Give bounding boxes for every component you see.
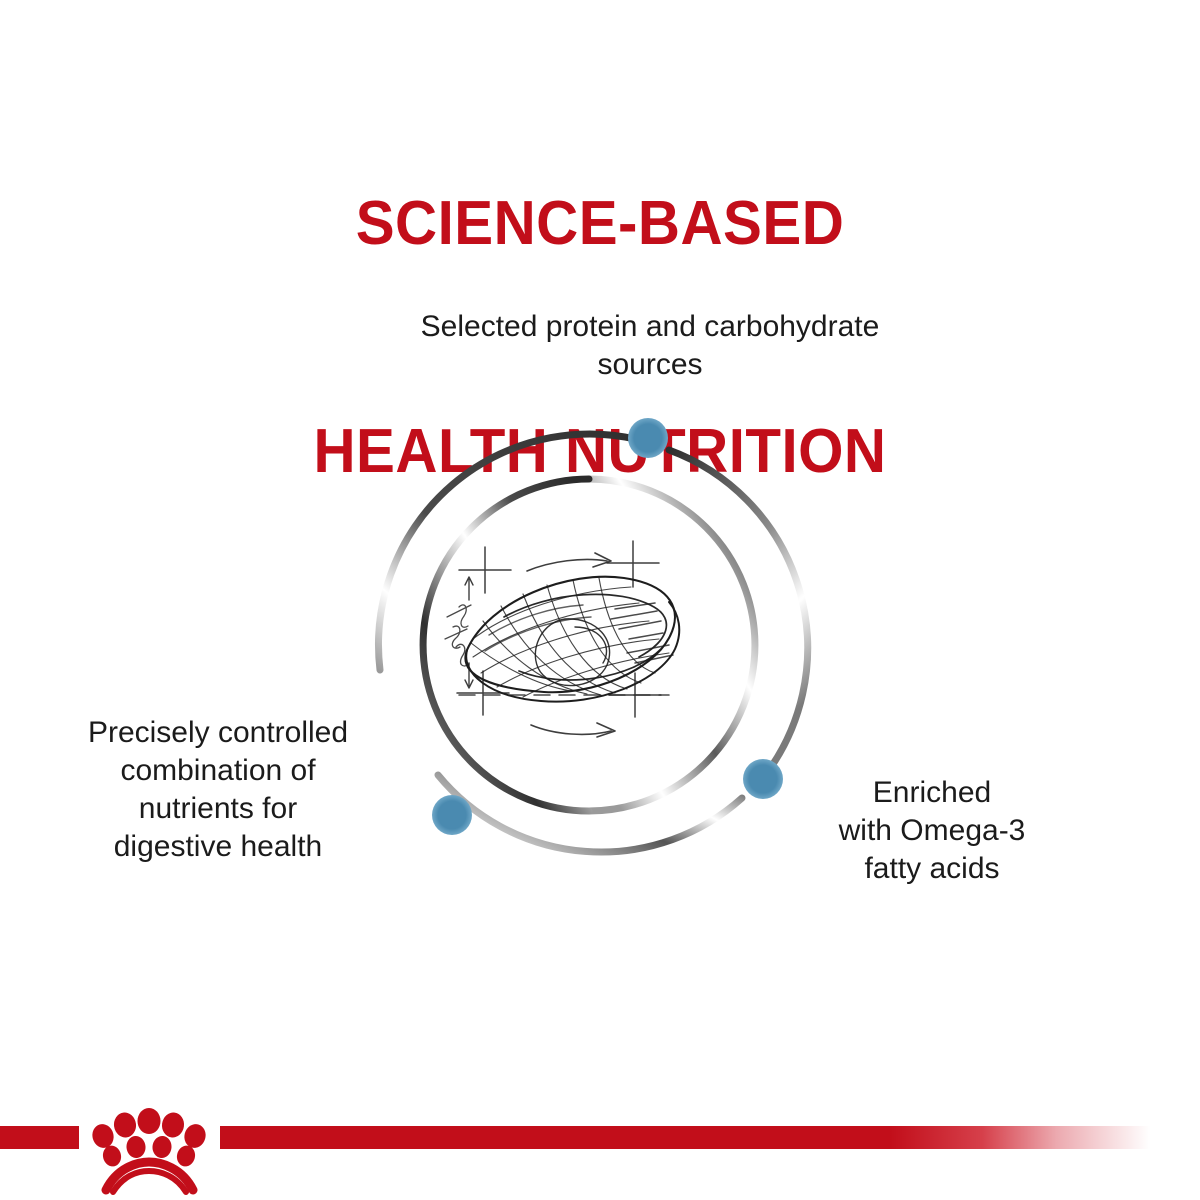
crown-base-arcs — [106, 1162, 193, 1192]
outer-arc-left — [379, 434, 647, 670]
brand-bar-left — [0, 1126, 79, 1149]
marker-dot-top — [628, 418, 668, 458]
callout-selected-protein-carbohydrate: Selected protein and carbohydrate source… — [310, 308, 990, 384]
brand-bar-right — [220, 1126, 1150, 1149]
kibble-technical-sketch — [445, 541, 679, 737]
callout-omega-3-enriched: Enriched with Omega-3 fatty acids — [812, 774, 1052, 888]
marker-dot-bottom-left — [432, 795, 472, 835]
footer-brand-bar — [0, 1100, 1200, 1200]
outer-arc-right — [669, 450, 808, 778]
page-title-line-1: SCIENCE-BASED — [36, 186, 1164, 262]
inner-ring-left-half — [423, 479, 589, 811]
marker-dot-right — [743, 759, 783, 799]
royal-canin-crown-logo — [79, 1100, 220, 1200]
kibble-diagram — [339, 395, 839, 895]
